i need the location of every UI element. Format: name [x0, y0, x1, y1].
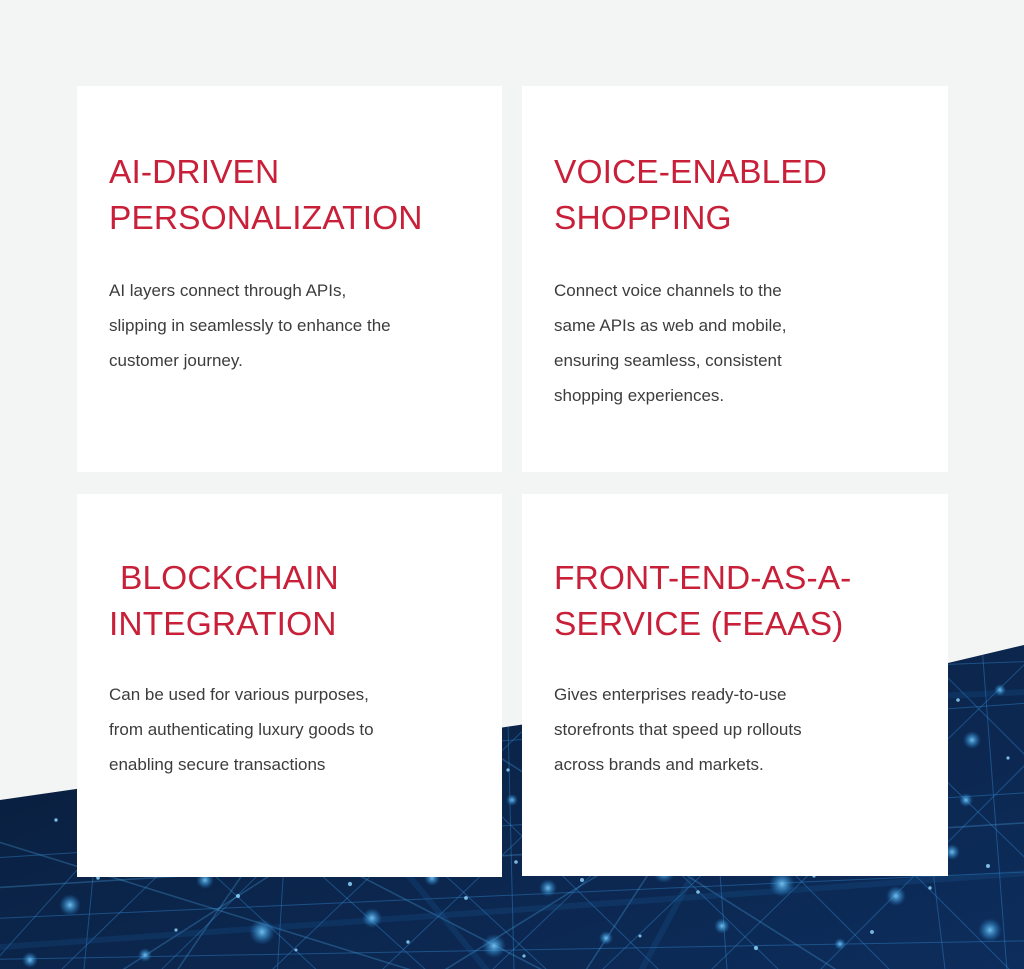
card-title: VOICE-ENABLED SHOPPING	[554, 150, 924, 242]
feature-card-blockchain-integration[interactable]: BLOCKCHAIN INTEGRATION Can be used for v…	[77, 494, 502, 877]
feature-card-grid: AI-DRIVEN PERSONALIZATION AI layers conn…	[0, 0, 1024, 969]
card-content: BLOCKCHAIN INTEGRATION Can be used for v…	[109, 556, 478, 782]
feature-card-front-end-as-a-service[interactable]: FRONT-END-AS-A- SERVICE (FEAAS) Gives en…	[522, 494, 948, 876]
card-content: AI-DRIVEN PERSONALIZATION AI layers conn…	[109, 150, 478, 378]
card-title: AI-DRIVEN PERSONALIZATION	[109, 150, 478, 242]
card-description: Can be used for various purposes, from a…	[109, 677, 478, 782]
card-description: Connect voice channels to the same APIs …	[554, 273, 924, 413]
card-content: VOICE-ENABLED SHOPPING Connect voice cha…	[554, 150, 924, 413]
card-description: AI layers connect through APIs, slipping…	[109, 273, 478, 378]
feature-card-voice-enabled-shopping[interactable]: VOICE-ENABLED SHOPPING Connect voice cha…	[522, 86, 948, 472]
feature-card-ai-driven-personalization[interactable]: AI-DRIVEN PERSONALIZATION AI layers conn…	[77, 86, 502, 472]
card-content: FRONT-END-AS-A- SERVICE (FEAAS) Gives en…	[554, 556, 924, 782]
card-description: Gives enterprises ready-to-use storefron…	[554, 677, 924, 782]
card-title: BLOCKCHAIN INTEGRATION	[109, 556, 478, 648]
card-title: FRONT-END-AS-A- SERVICE (FEAAS)	[554, 556, 924, 648]
